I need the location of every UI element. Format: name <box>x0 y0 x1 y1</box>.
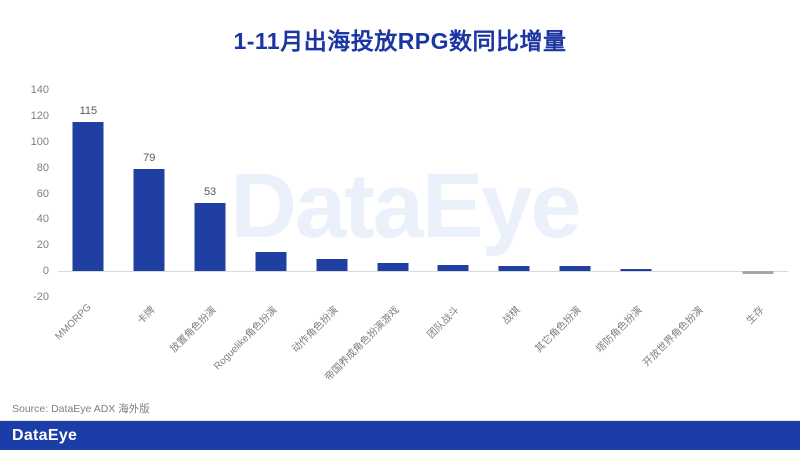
y-axis-tick-label: 40 <box>37 213 49 225</box>
y-axis-tick-label: 20 <box>37 239 49 251</box>
x-axis-label-slot: 团队战斗 <box>423 300 484 395</box>
x-axis-label-slot: 开放世界角色扮演 <box>666 300 727 395</box>
y-axis-tick-label: 120 <box>31 110 49 122</box>
slide-root: 1-11月出海投放RPG数同比增量 DataEye 14012010080604… <box>0 0 800 450</box>
y-axis-tick-label: 100 <box>31 136 49 148</box>
y-axis-tick-label: 140 <box>31 84 49 96</box>
bar[interactable] <box>73 122 104 271</box>
bar-value-label: 115 <box>80 105 98 117</box>
bar[interactable] <box>134 169 165 271</box>
x-axis-label-slot: 帝国养成角色扮演游戏 <box>362 300 423 395</box>
y-axis-tick-label: 0 <box>43 265 49 277</box>
bar-slot <box>484 90 545 297</box>
y-axis-tick-label: 60 <box>37 188 49 200</box>
dataeye-logo: DataEye <box>12 427 77 445</box>
bar[interactable] <box>499 266 530 271</box>
bar-value-label: 53 <box>204 186 216 198</box>
bar-slot: 115 <box>58 90 119 297</box>
bar-slot <box>545 90 606 297</box>
bar[interactable] <box>195 203 226 272</box>
bar-slot: 79 <box>119 90 180 297</box>
x-axis-labels: MMORPG卡牌放置角色扮演Roguelike角色扮演动作角色扮演帝国养成角色扮… <box>58 300 788 395</box>
bar[interactable] <box>560 266 591 271</box>
footer-bar <box>0 421 800 450</box>
source-note: Source: DataEye ADX 海外版 <box>12 401 150 416</box>
bar-slot: 53 <box>180 90 241 297</box>
bar-value-label: 79 <box>143 152 155 164</box>
page-title: 1-11月出海投放RPG数同比增量 <box>0 22 800 56</box>
x-axis-label-slot: MMORPG <box>58 300 119 395</box>
y-axis-tick-label: 80 <box>37 162 49 174</box>
x-axis-label-slot: 生存 <box>727 300 788 395</box>
y-axis-tick-label: -20 <box>33 291 49 303</box>
